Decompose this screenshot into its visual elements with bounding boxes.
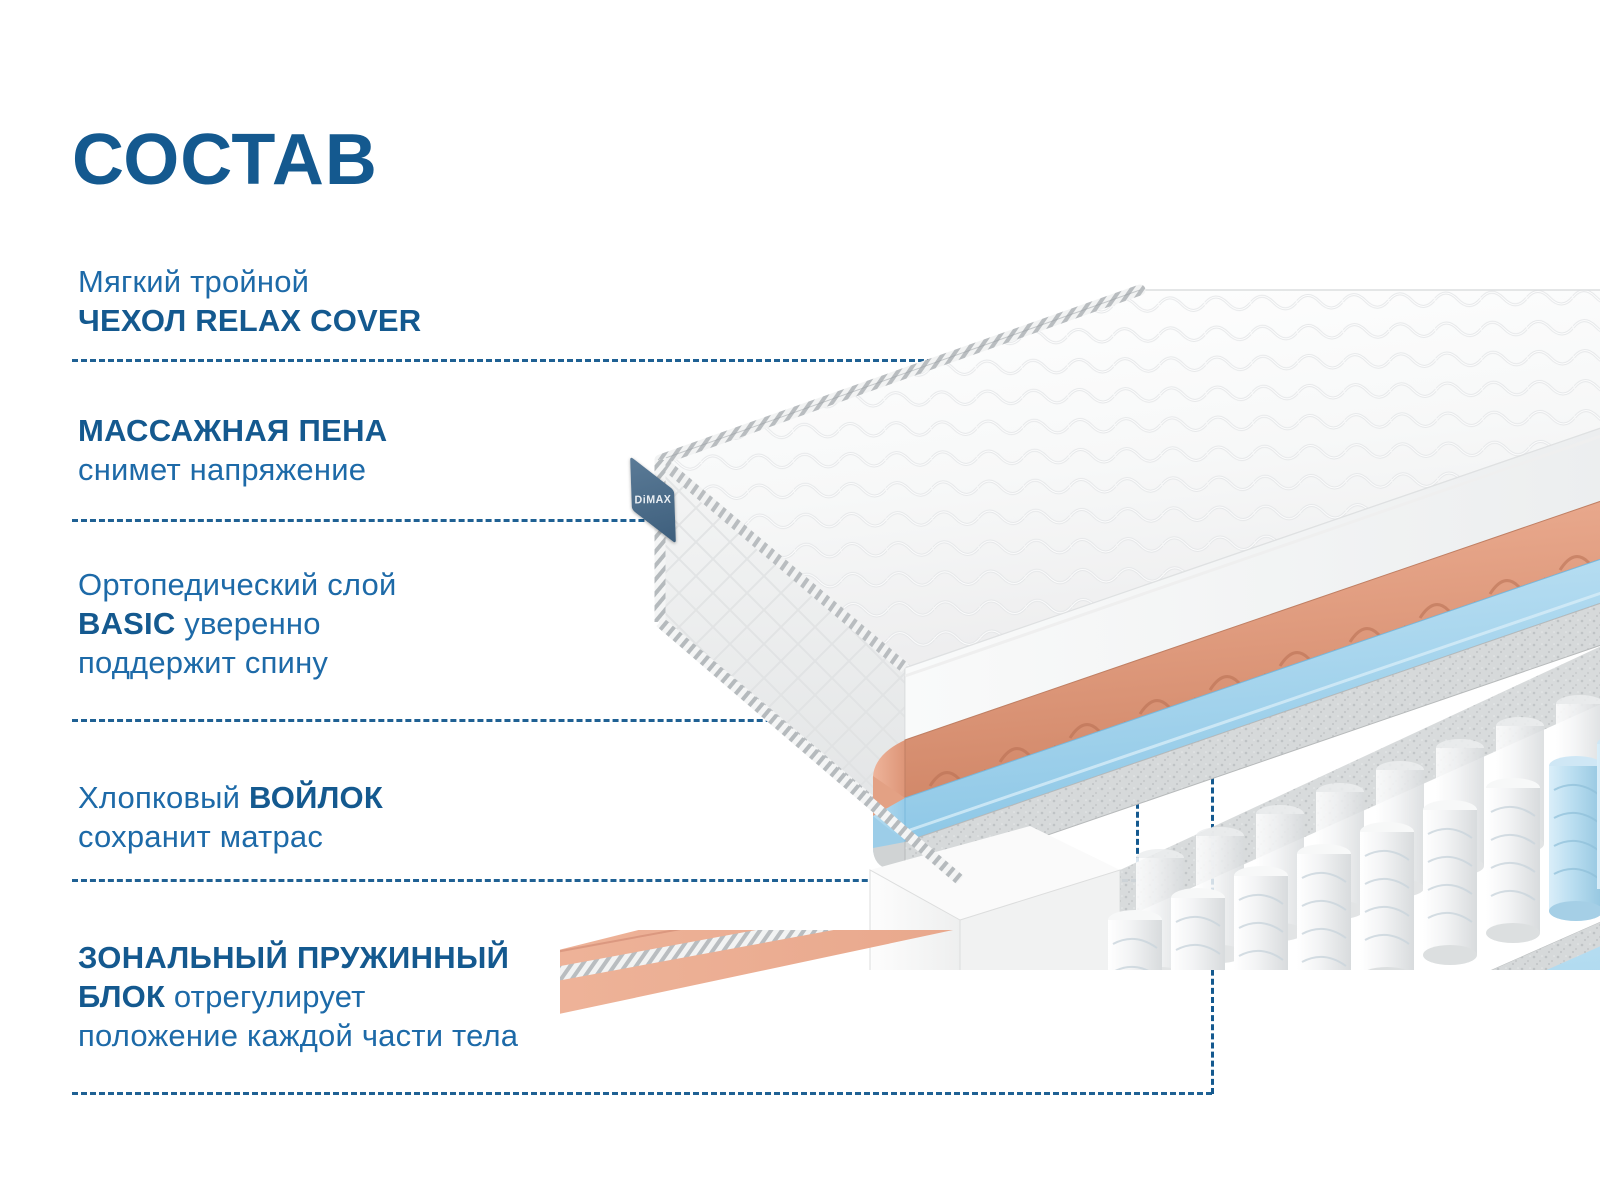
- massage-foam-line2: снимет напряжение: [78, 450, 387, 489]
- basic-line3: поддержит спину: [78, 643, 397, 682]
- layer-label-basic: Ортопедический слой BASIC уверенно подде…: [78, 565, 397, 682]
- spring-block-line2-rest: отрегулирует: [165, 979, 365, 1014]
- felt-line2: сохранит матрас: [78, 817, 383, 856]
- mattress-bottom-edge: [560, 930, 1600, 1050]
- layer-label-relax-cover: Мягкий тройной ЧЕХОЛ RELAX COVER: [78, 262, 421, 340]
- layer-label-felt: Хлопковый ВОЙЛОК сохранит матрас: [78, 778, 383, 856]
- relax-cover-line1: Мягкий тройной: [78, 262, 421, 301]
- basic-line1: Ортопедический слой: [78, 565, 397, 604]
- massage-foam-line1: МАССАЖНАЯ ПЕНА: [78, 411, 387, 450]
- spring-block-line3: положение каждой части тела: [78, 1016, 518, 1055]
- separator-5: [72, 1092, 1212, 1095]
- basic-line2-rest: уверенно: [175, 606, 320, 641]
- infographic-canvas: СОСТАВ Мягкий тройной ЧЕХОЛ RELAX COVER …: [0, 0, 1600, 1200]
- spring-block-line1: ЗОНАЛЬНЫЙ ПРУЖИННЫЙ: [78, 938, 518, 977]
- layer-label-spring-block: ЗОНАЛЬНЫЙ ПРУЖИННЫЙ БЛОК отрегулирует по…: [78, 938, 518, 1055]
- felt-line1-bold: ВОЙЛОК: [249, 780, 383, 815]
- mattress-cutaway-illustration: [560, 270, 1600, 970]
- layer-label-massage-foam: МАССАЖНАЯ ПЕНА снимет напряжение: [78, 411, 387, 489]
- spring-block-line2-bold: БЛОК: [78, 979, 165, 1014]
- brand-tag-label: DiMAX: [635, 493, 672, 506]
- page-title: СОСТАВ: [72, 124, 378, 196]
- basic-line2-bold: BASIC: [78, 606, 175, 641]
- relax-cover-line2-bold: ЧЕХОЛ RELAX COVER: [78, 303, 421, 338]
- felt-line1-pre: Хлопковый: [78, 780, 249, 815]
- zonal-spring-blue: [1549, 756, 1600, 921]
